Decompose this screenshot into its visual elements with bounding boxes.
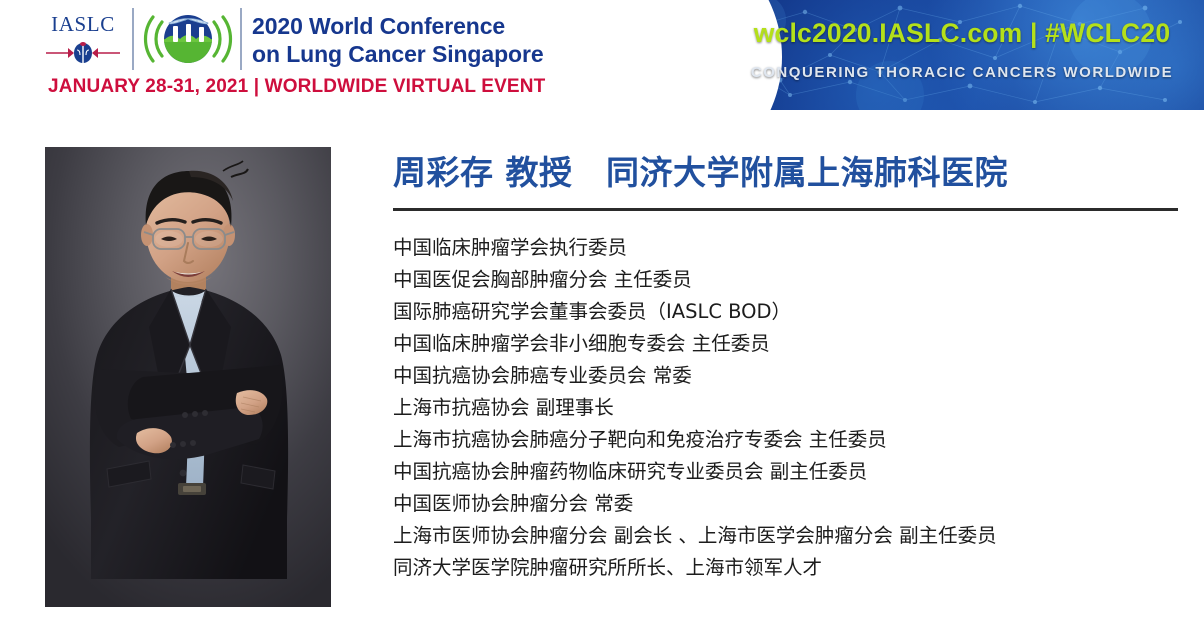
title-divider-rule xyxy=(393,208,1178,211)
lung-ribbon-icon xyxy=(44,38,122,68)
list-item: 中国抗癌协会肿瘤药物临床研究专业委员会 副主任委员 xyxy=(393,456,1193,488)
page-title: 周彩存 教授 同济大学附属上海肺科医院 xyxy=(393,146,1183,194)
list-item: 中国临床肿瘤学会执行委员 xyxy=(393,232,1193,264)
marina-bay-sands-signal-icon xyxy=(142,6,234,72)
list-item: 中国临床肿瘤学会非小细胞专委会 主任委员 xyxy=(393,328,1193,360)
speaker-portrait-photo xyxy=(45,147,331,607)
list-item: 中国抗癌协会肺癌专业委员会 常委 xyxy=(393,360,1193,392)
event-date-line: JANUARY 28-31, 2021 | WORLDWIDE VIRTUAL … xyxy=(48,76,545,98)
list-item: 上海市抗癌协会肺癌分子靶向和免疫治疗专委会 主任委员 xyxy=(393,424,1193,456)
speaker-portrait-illustration xyxy=(45,147,331,607)
conference-title: 2020 World Conference on Lung Cancer Sin… xyxy=(252,12,544,68)
conference-web-banner: wclc2020.IASLC.com | #WCLC20 CONQUERING … xyxy=(640,0,1204,110)
conference-website-url: wclc2020.IASLC.com | #WCLC20 xyxy=(640,18,1204,49)
iaslc-wordmark: IASLC xyxy=(44,12,122,37)
logo-divider-left xyxy=(132,8,134,70)
list-item: 同济大学医学院肿瘤研究所所长、上海市领军人才 xyxy=(393,552,1193,584)
list-item: 上海市抗癌协会 副理事长 xyxy=(393,392,1193,424)
list-item: 国际肺癌研究学会董事会委员（IASLC BOD） xyxy=(393,296,1193,328)
conference-tagline: CONQUERING THORACIC CANCERS WORLDWIDE xyxy=(640,64,1204,81)
iaslc-logo: IASLC xyxy=(44,12,122,68)
list-item: 中国医师协会肿瘤分会 常委 xyxy=(393,488,1193,520)
banner-arc-cutout xyxy=(640,0,782,110)
header-banner: IASLC xyxy=(0,0,1204,112)
logo-divider-right xyxy=(240,8,242,70)
conference-title-line-2: on Lung Cancer Singapore xyxy=(252,40,544,68)
list-item: 中国医促会胸部肿瘤分会 主任委员 xyxy=(393,264,1193,296)
list-item: 上海市医师协会肿瘤分会 副会长 、上海市医学会肿瘤分会 副主任委员 xyxy=(393,520,1193,552)
conference-title-line-1: 2020 World Conference xyxy=(252,12,544,40)
speaker-credentials-list: 中国临床肿瘤学会执行委员 中国医促会胸部肿瘤分会 主任委员 国际肺癌研究学会董事… xyxy=(393,232,1193,584)
